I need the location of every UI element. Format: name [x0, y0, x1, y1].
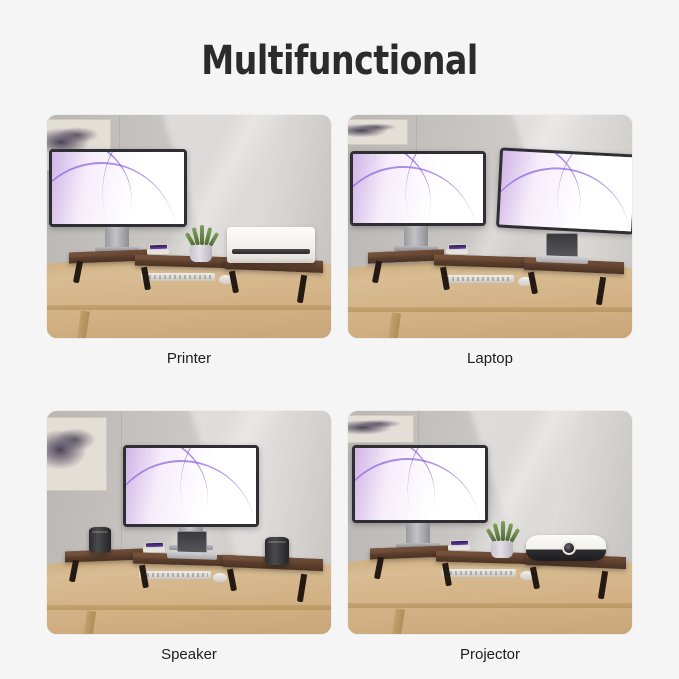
- caption-projector: Projector: [347, 646, 633, 663]
- wall-art-icon: [347, 119, 408, 145]
- monitor-neck: [406, 523, 430, 545]
- laptop-screen: [546, 233, 578, 257]
- keyboard: [444, 275, 514, 283]
- wall-art-icon: [46, 417, 107, 491]
- monitor-screen: [355, 448, 485, 520]
- product-feature-page: Multifunctional: [0, 0, 679, 679]
- photo-laptop: [347, 114, 633, 339]
- wall-art-icon: [347, 415, 414, 443]
- monitor-neck: [105, 227, 129, 249]
- monitor-left: [350, 151, 486, 226]
- phone: [145, 542, 164, 549]
- laptop-screen: [177, 531, 207, 553]
- grid-row-bottom: Speaker: [46, 410, 633, 663]
- feature-cell-printer[interactable]: Printer: [46, 114, 332, 367]
- feature-grid: Printer: [46, 114, 633, 663]
- feature-cell-projector[interactable]: Projector: [347, 410, 633, 663]
- projector: [526, 535, 606, 561]
- monitor-screen: [353, 154, 483, 223]
- monitor: [49, 149, 187, 227]
- monitor-screen: [52, 152, 184, 224]
- phone: [448, 244, 467, 251]
- monitor-bezel: [49, 149, 187, 227]
- printer-tray: [230, 257, 313, 263]
- mouse: [213, 573, 227, 582]
- monitor-bezel: [352, 445, 488, 523]
- photo-speaker: [46, 410, 332, 635]
- monitor: [352, 445, 488, 523]
- printer: [227, 227, 315, 263]
- monitor-neck: [404, 226, 428, 248]
- desk-edge: [347, 603, 633, 608]
- caption-laptop: Laptop: [347, 350, 633, 367]
- phone: [450, 540, 469, 547]
- caption-speaker: Speaker: [46, 646, 332, 663]
- monitor-bezel: [123, 445, 259, 527]
- monitor-bezel: [496, 147, 633, 234]
- keyboard: [139, 571, 211, 579]
- plant-pot: [491, 541, 513, 558]
- feature-cell-laptop[interactable]: Laptop: [347, 114, 633, 367]
- caption-printer: Printer: [46, 350, 332, 367]
- speaker-left: [89, 527, 111, 553]
- photo-projector: [347, 410, 633, 635]
- desk-edge: [46, 305, 332, 310]
- keyboard: [442, 569, 516, 577]
- plant-pot: [190, 245, 212, 262]
- monitor-screen: [126, 448, 256, 524]
- desk-edge: [46, 605, 332, 610]
- feature-cell-speaker[interactable]: Speaker: [46, 410, 332, 663]
- monitor: [123, 445, 259, 527]
- speaker-right: [265, 537, 289, 565]
- projector-lens: [562, 541, 576, 555]
- monitor-right: [496, 147, 633, 234]
- grid-row-top: Printer: [46, 114, 633, 367]
- printer-paper-slot: [232, 249, 309, 254]
- monitor-bezel: [350, 151, 486, 226]
- page-title: Multifunctional: [27, 38, 652, 84]
- keyboard: [141, 273, 215, 281]
- photo-printer: [46, 114, 332, 339]
- monitor-screen: [499, 151, 633, 232]
- desk-edge: [347, 307, 633, 312]
- phone: [149, 244, 168, 251]
